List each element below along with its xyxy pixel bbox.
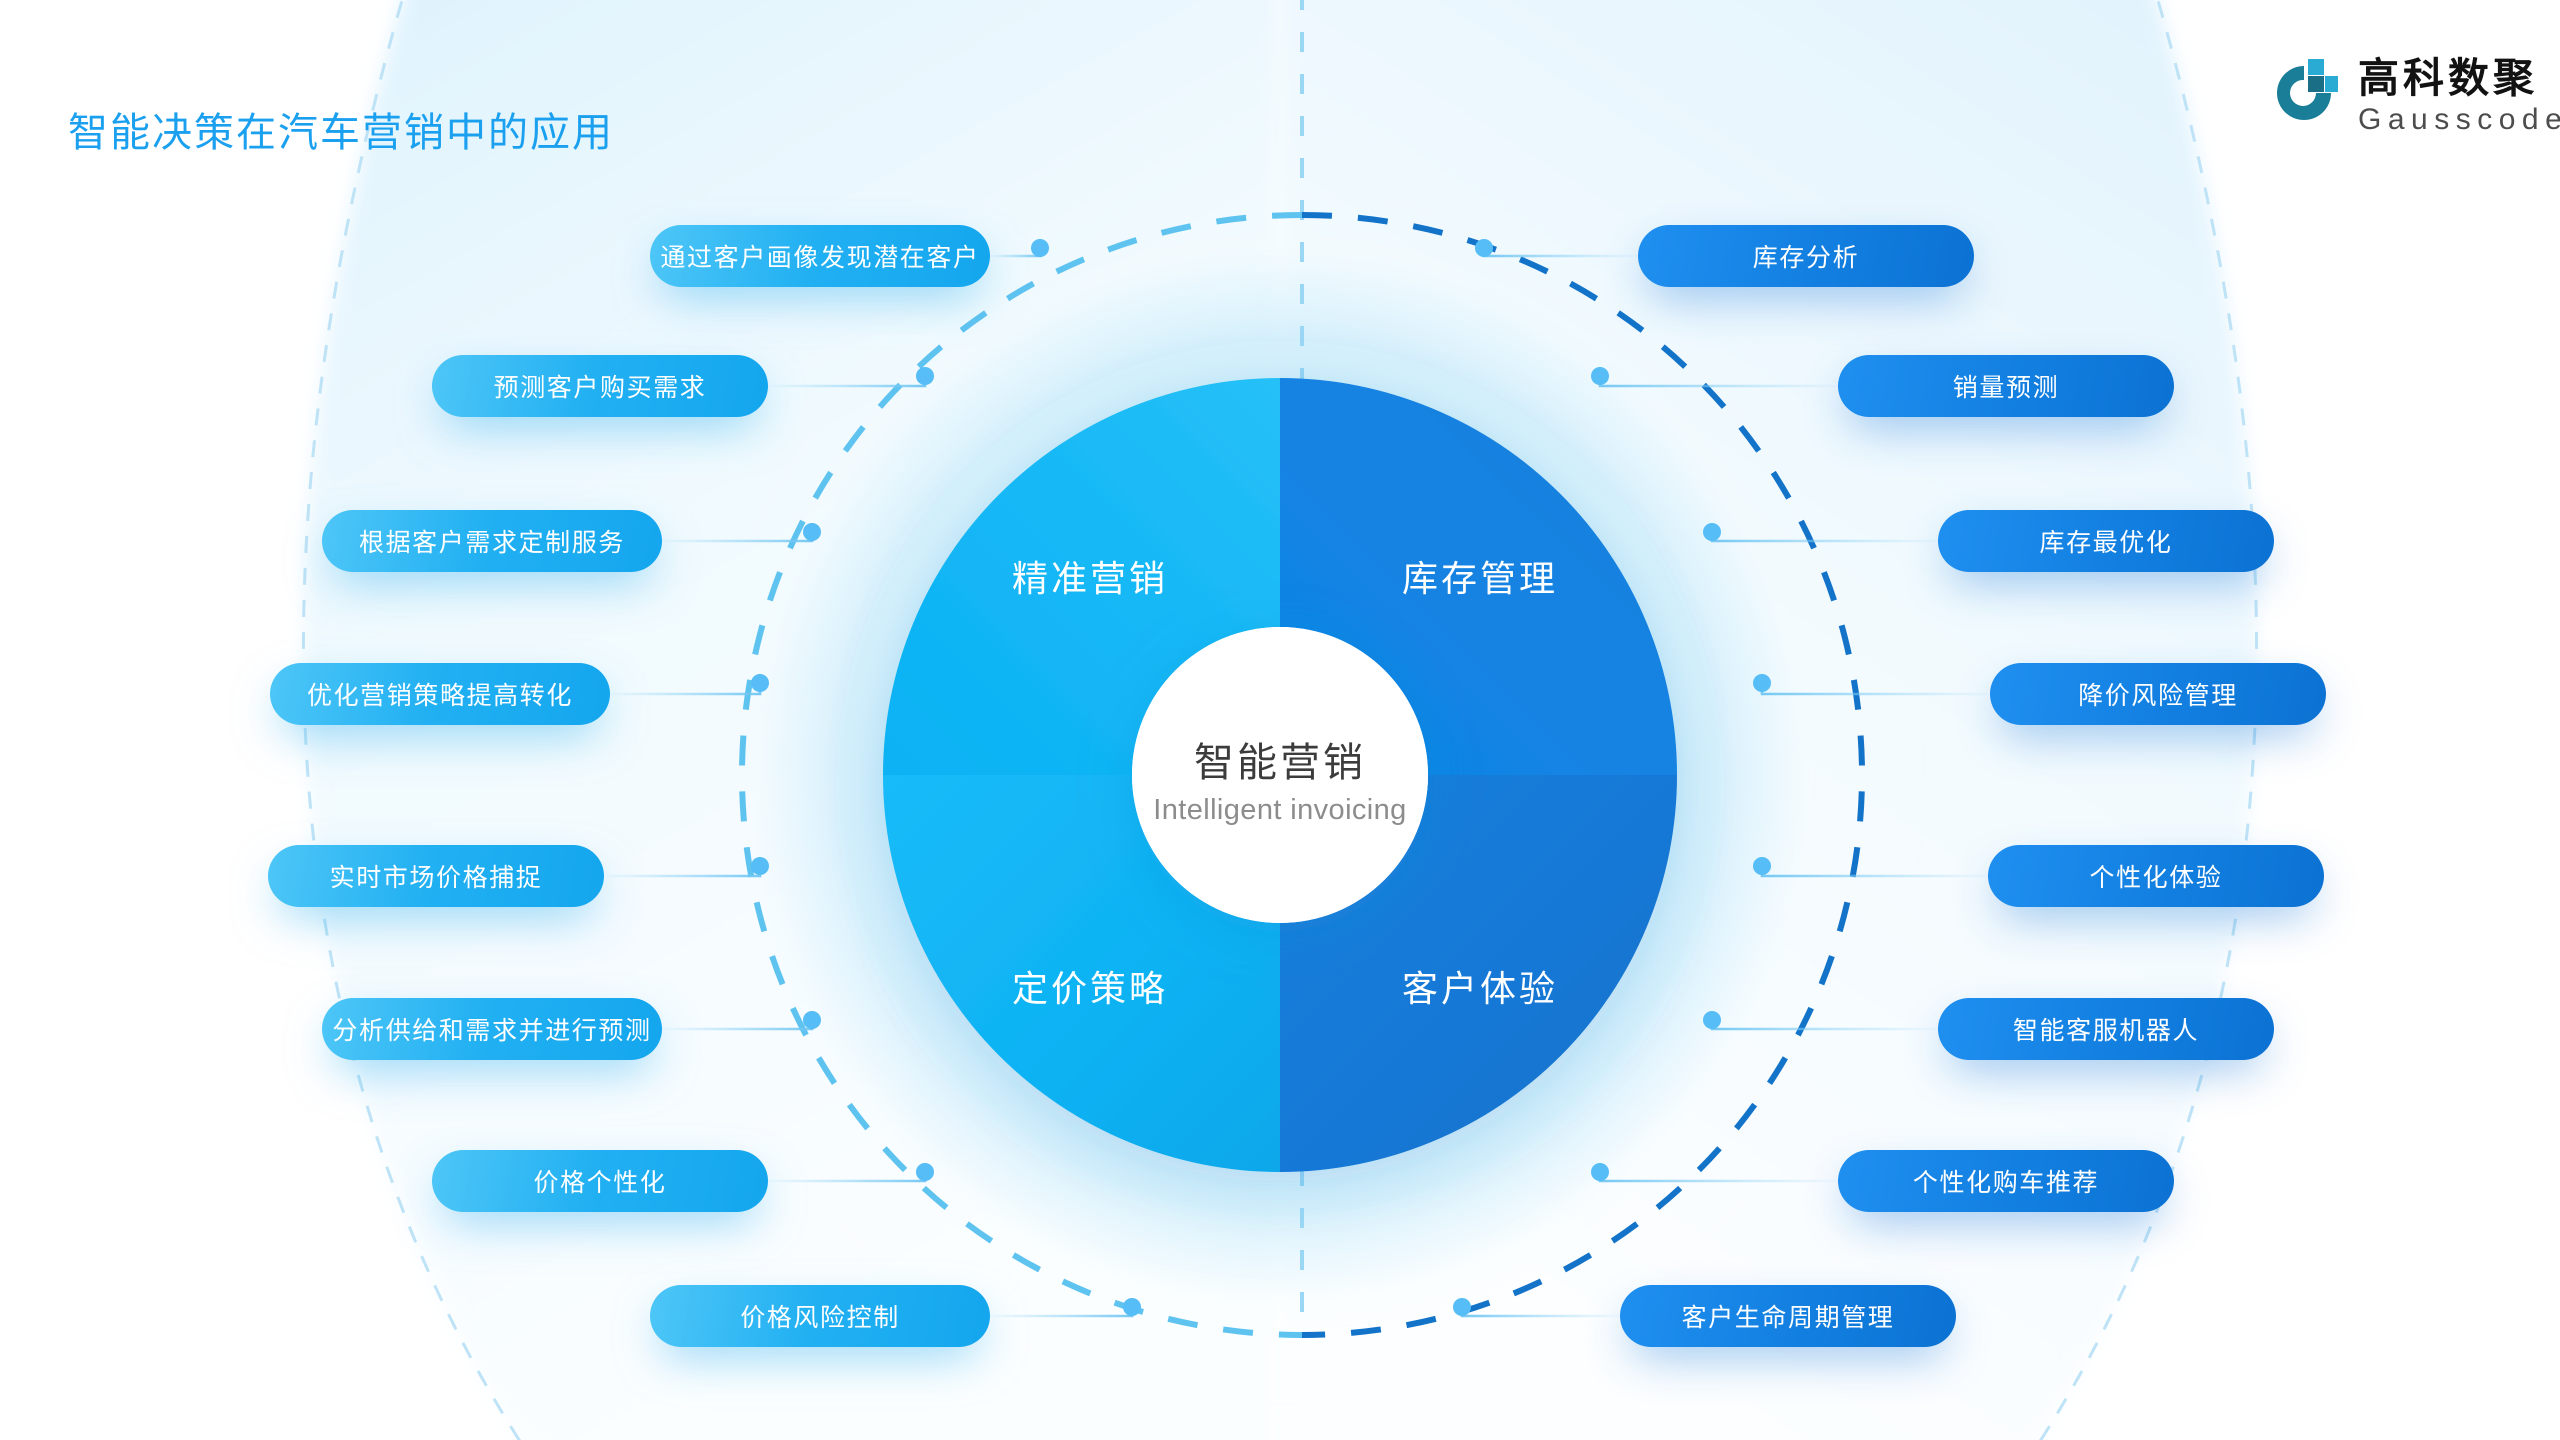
item-pill[interactable]: 根据客户需求定制服务 [322,510,662,572]
connector-node-dot [1753,674,1771,692]
item-pill[interactable]: 库存分析 [1638,225,1974,287]
gausscode-logo-mark [2268,58,2338,132]
connector-node-dot [1453,1298,1471,1316]
connector-line [1762,866,1988,876]
connector-line [662,1020,812,1029]
quadrant-label-pricing-strategy: 定价策略 [980,960,1200,1012]
connector-line [1712,1020,1938,1029]
item-pill-label: 客户生命周期管理 [1620,1285,1956,1347]
item-pill-label: 根据客户需求定制服务 [322,510,662,572]
item-pill[interactable]: 分析供给和需求并进行预测 [322,998,662,1060]
item-pill-label: 分析供给和需求并进行预测 [322,998,662,1060]
item-pill-label: 个性化购车推荐 [1838,1150,2174,1212]
item-pill-label: 价格个性化 [432,1150,768,1212]
item-pill-label: 优化营销策略提高转化 [270,663,610,725]
connector-node-dot [1031,239,1049,257]
logo-name-cn: 高科数聚 [2358,58,2560,99]
hub-title: 智能营销 [0,730,2560,788]
connector-line [990,1307,1132,1316]
connector-node-dot [1475,239,1493,257]
brand-logo: 高科数聚 Gausscode [2268,58,2560,135]
connector-node-dot [751,857,769,875]
item-pill[interactable]: 降价风险管理 [1990,663,2326,725]
connector-line [1712,532,1938,541]
item-pill[interactable]: 个性化体验 [1988,845,2324,907]
connector-line [1484,248,1638,256]
item-pill-label: 库存分析 [1638,225,1974,287]
item-pill-label: 通过客户画像发现潜在客户 [650,225,990,287]
item-pill[interactable]: 个性化购车推荐 [1838,1150,2174,1212]
quadrant-label-customer-experience: 客户体验 [1370,960,1590,1012]
item-pill-label: 实时市场价格捕捉 [268,845,604,907]
item-pill[interactable]: 优化营销策略提高转化 [270,663,610,725]
connector-line [1600,376,1838,386]
item-pill[interactable]: 预测客户购买需求 [432,355,768,417]
item-pill[interactable]: 库存最优化 [1938,510,2274,572]
connector-node-dot [916,1163,934,1181]
logo-name-en: Gausscode [2358,105,2560,135]
item-pill[interactable]: 通过客户画像发现潜在客户 [650,225,990,287]
page-title: 智能决策在汽车营销中的应用 [68,100,614,158]
connector-line [768,376,925,386]
connector-node-dot [1753,857,1771,875]
connector-node-dot [1591,1163,1609,1181]
item-pill-label: 价格风险控制 [650,1285,990,1347]
item-pill[interactable]: 实时市场价格捕捉 [268,845,604,907]
connector-node-dot [803,523,821,541]
connector-line [768,1172,925,1181]
hub-subtitle: Intelligent invoicing [0,794,2560,827]
connector-line [1600,1172,1838,1181]
connector-node-dot [916,367,934,385]
infographic-canvas: 智能决策在汽车营销中的应用 高科数聚 Gausscode 智能营销 Intell… [0,0,2560,1440]
quadrant-label-inventory-management: 库存管理 [1370,550,1590,602]
item-pill-label: 个性化体验 [1988,845,2324,907]
item-pill[interactable]: 价格风险控制 [650,1285,990,1347]
connector-line [610,683,760,694]
connector-node-dot [1123,1298,1141,1316]
item-pill[interactable]: 价格个性化 [432,1150,768,1212]
connector-line [1462,1307,1620,1316]
connector-node-dot [1703,1011,1721,1029]
item-pill-label: 降价风险管理 [1990,663,2326,725]
connector-line [604,866,760,876]
connector-line [662,532,812,541]
item-pill[interactable]: 客户生命周期管理 [1620,1285,1956,1347]
item-pill-label: 智能客服机器人 [1938,998,2274,1060]
connector-line [1762,683,1990,694]
item-pill-label: 库存最优化 [1938,510,2274,572]
connector-node-dot [803,1011,821,1029]
item-pill-label: 销量预测 [1838,355,2174,417]
connector-node-dot [1703,523,1721,541]
quadrant-label-precision-marketing: 精准营销 [980,550,1200,602]
connector-node-dot [751,674,769,692]
item-pill[interactable]: 销量预测 [1838,355,2174,417]
item-pill-label: 预测客户购买需求 [432,355,768,417]
item-pill[interactable]: 智能客服机器人 [1938,998,2274,1060]
connector-node-dot [1591,367,1609,385]
